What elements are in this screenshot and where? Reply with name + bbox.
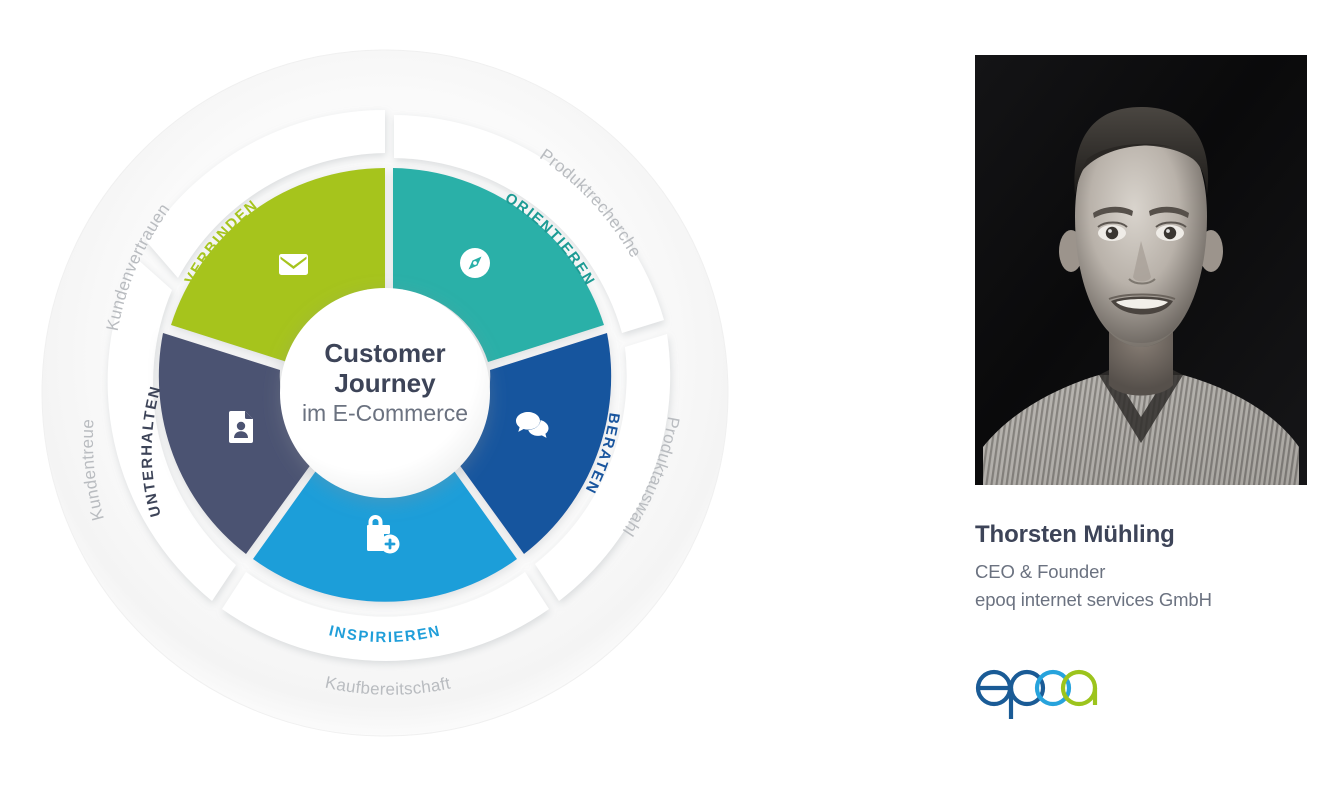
epoq-logo [975, 661, 1105, 723]
person-details: Thorsten Mühling CEO & Founder epoq inte… [975, 521, 1315, 615]
portrait-photo [975, 55, 1307, 485]
center-title-line2: Journey [334, 368, 436, 398]
center-subtitle: im E-Commerce [302, 400, 468, 426]
envelope-icon [279, 254, 308, 275]
speaker-profile: Thorsten Mühling CEO & Founder epoq inte… [975, 55, 1315, 723]
contact-card-icon [229, 411, 253, 443]
person-role: CEO & Founder [975, 558, 1315, 587]
person-company: epoq internet services GmbH [975, 586, 1315, 615]
slide-root: Customer Journey im E-Commerce [0, 0, 1344, 786]
compass-icon [460, 248, 490, 278]
epoq-logo-letter-e [978, 672, 1010, 704]
person-name: Thorsten Mühling [975, 521, 1315, 550]
portrait-illustration [975, 55, 1307, 485]
customer-journey-wheel: Customer Journey im E-Commerce [0, 0, 800, 786]
center-title-line1: Customer [324, 338, 445, 368]
wheel-svg: Customer Journey im E-Commerce [0, 0, 800, 786]
logo-container [975, 661, 1315, 723]
